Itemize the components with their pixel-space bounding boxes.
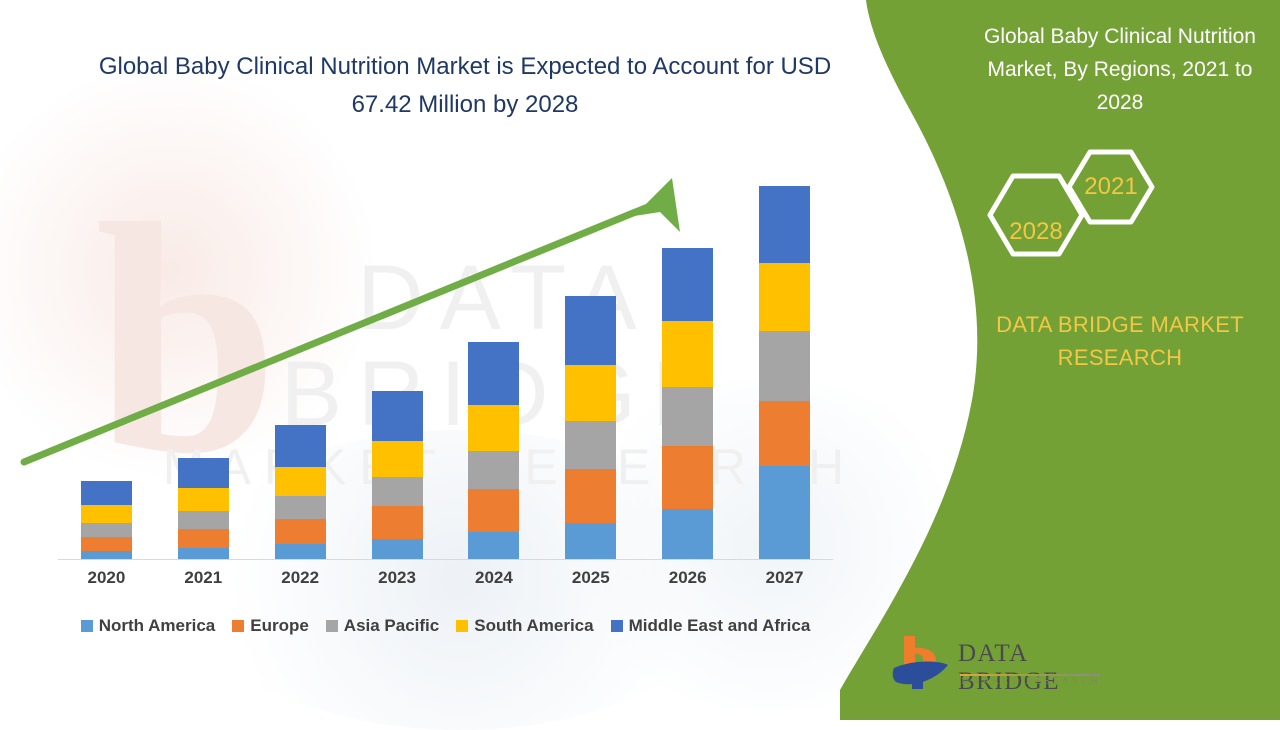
bar-segment[interactable] xyxy=(662,248,713,321)
stacked-bar[interactable] xyxy=(372,391,423,559)
bar-segment[interactable] xyxy=(662,446,713,509)
bar-segment[interactable] xyxy=(565,421,616,469)
bar-segment[interactable] xyxy=(468,342,519,405)
legend-item[interactable]: Europe xyxy=(232,616,309,636)
bar-segment[interactable] xyxy=(759,263,810,331)
stacked-bar-chart xyxy=(58,150,833,560)
legend-swatch-icon xyxy=(611,620,623,632)
stacked-bar[interactable] xyxy=(275,425,326,559)
bar-segment[interactable] xyxy=(759,401,810,466)
x-axis-label-2022: 2022 xyxy=(252,568,349,588)
panel-brand-name: DATA BRIDGE MARKET RESEARCH xyxy=(975,308,1265,374)
bar-segment[interactable] xyxy=(372,539,423,559)
bar-segment[interactable] xyxy=(468,405,519,451)
bar-slot-2020 xyxy=(58,150,155,559)
stacked-bar[interactable] xyxy=(759,186,810,559)
legend-swatch-icon xyxy=(81,620,93,632)
stacked-bar[interactable] xyxy=(178,458,229,559)
bar-segment[interactable] xyxy=(565,296,616,365)
bar-segment[interactable] xyxy=(81,537,132,551)
bar-segment[interactable] xyxy=(81,505,132,523)
logo-divider xyxy=(960,674,1100,676)
legend-label: Middle East and Africa xyxy=(629,616,811,636)
legend-item[interactable]: North America xyxy=(81,616,216,636)
bar-segment[interactable] xyxy=(565,365,616,421)
stacked-bar[interactable] xyxy=(565,296,616,559)
bar-slot-2021 xyxy=(155,150,252,559)
bar-segment[interactable] xyxy=(759,466,810,559)
x-axis-label-2020: 2020 xyxy=(58,568,155,588)
bar-segment[interactable] xyxy=(759,186,810,263)
bar-segment[interactable] xyxy=(275,519,326,544)
x-axis-label-2025: 2025 xyxy=(542,568,639,588)
logo-mark-icon xyxy=(890,632,954,694)
bar-segment[interactable] xyxy=(275,425,326,467)
legend-swatch-icon xyxy=(326,620,338,632)
logo-wordmark: DATA BRIDGE xyxy=(958,640,1105,696)
bar-segment[interactable] xyxy=(565,469,616,523)
bar-segment[interactable] xyxy=(275,544,326,559)
x-axis-label-2027: 2027 xyxy=(736,568,833,588)
bar-segment[interactable] xyxy=(178,529,229,548)
legend-item[interactable]: South America xyxy=(456,616,593,636)
logo-tagline: MARKET RESEARCH xyxy=(960,677,1102,687)
legend-label: Asia Pacific xyxy=(344,616,439,636)
x-axis-line xyxy=(58,559,833,560)
bar-segment[interactable] xyxy=(178,511,229,529)
legend-label: South America xyxy=(474,616,593,636)
legend-item[interactable]: Asia Pacific xyxy=(326,616,439,636)
bar-segment[interactable] xyxy=(81,481,132,505)
bar-slot-2026 xyxy=(639,150,736,559)
bar-segment[interactable] xyxy=(759,331,810,401)
bar-segment[interactable] xyxy=(178,488,229,511)
bar-segment[interactable] xyxy=(468,489,519,532)
bar-slot-2023 xyxy=(349,150,446,559)
legend-swatch-icon xyxy=(456,620,468,632)
hex-label-2021: 2021 xyxy=(1076,173,1146,201)
x-axis-label-2023: 2023 xyxy=(349,568,446,588)
bar-segment[interactable] xyxy=(662,387,713,446)
bar-segment[interactable] xyxy=(565,523,616,559)
stacked-bar[interactable] xyxy=(468,342,519,559)
hexagon-badges: 2028 2021 xyxy=(945,140,1265,290)
bar-group xyxy=(58,150,833,559)
bar-segment[interactable] xyxy=(178,458,229,488)
bar-segment[interactable] xyxy=(81,523,132,537)
bar-segment[interactable] xyxy=(372,391,423,441)
bar-segment[interactable] xyxy=(468,451,519,489)
bar-segment[interactable] xyxy=(81,551,132,559)
stacked-bar[interactable] xyxy=(81,481,132,559)
company-logo: DATA BRIDGE MARKET RESEARCH xyxy=(890,632,1105,700)
bar-slot-2022 xyxy=(252,150,349,559)
legend-item[interactable]: Middle East and Africa xyxy=(611,616,811,636)
legend-label: North America xyxy=(99,616,216,636)
bar-slot-2024 xyxy=(446,150,543,559)
bar-segment[interactable] xyxy=(275,467,326,496)
bar-segment[interactable] xyxy=(468,532,519,559)
x-axis-label-2024: 2024 xyxy=(446,568,543,588)
bar-segment[interactable] xyxy=(275,496,326,519)
infographic-canvas: b DATA BRIDGE MARKET RESEARCH Global Bab… xyxy=(0,0,1280,720)
bar-segment[interactable] xyxy=(178,548,229,559)
bar-slot-2027 xyxy=(736,150,833,559)
stacked-bar[interactable] xyxy=(662,248,713,559)
chart-legend: North AmericaEuropeAsia PacificSouth Ame… xyxy=(58,616,833,636)
bar-segment[interactable] xyxy=(662,509,713,559)
bar-segment[interactable] xyxy=(372,477,423,506)
panel-title: Global Baby Clinical Nutrition Market, B… xyxy=(970,20,1270,119)
legend-swatch-icon xyxy=(232,620,244,632)
x-axis-label-2026: 2026 xyxy=(639,568,736,588)
bar-segment[interactable] xyxy=(662,321,713,387)
bar-slot-2025 xyxy=(542,150,639,559)
bar-segment[interactable] xyxy=(372,506,423,539)
hex-label-2028: 2028 xyxy=(1001,218,1071,246)
x-axis-label-2021: 2021 xyxy=(155,568,252,588)
chart-headline: Global Baby Clinical Nutrition Market is… xyxy=(95,48,835,124)
x-axis-labels: 20202021202220232024202520262027 xyxy=(58,568,833,588)
bar-segment[interactable] xyxy=(372,441,423,477)
legend-label: Europe xyxy=(250,616,309,636)
panel-content: Global Baby Clinical Nutrition Market, B… xyxy=(840,0,1280,720)
